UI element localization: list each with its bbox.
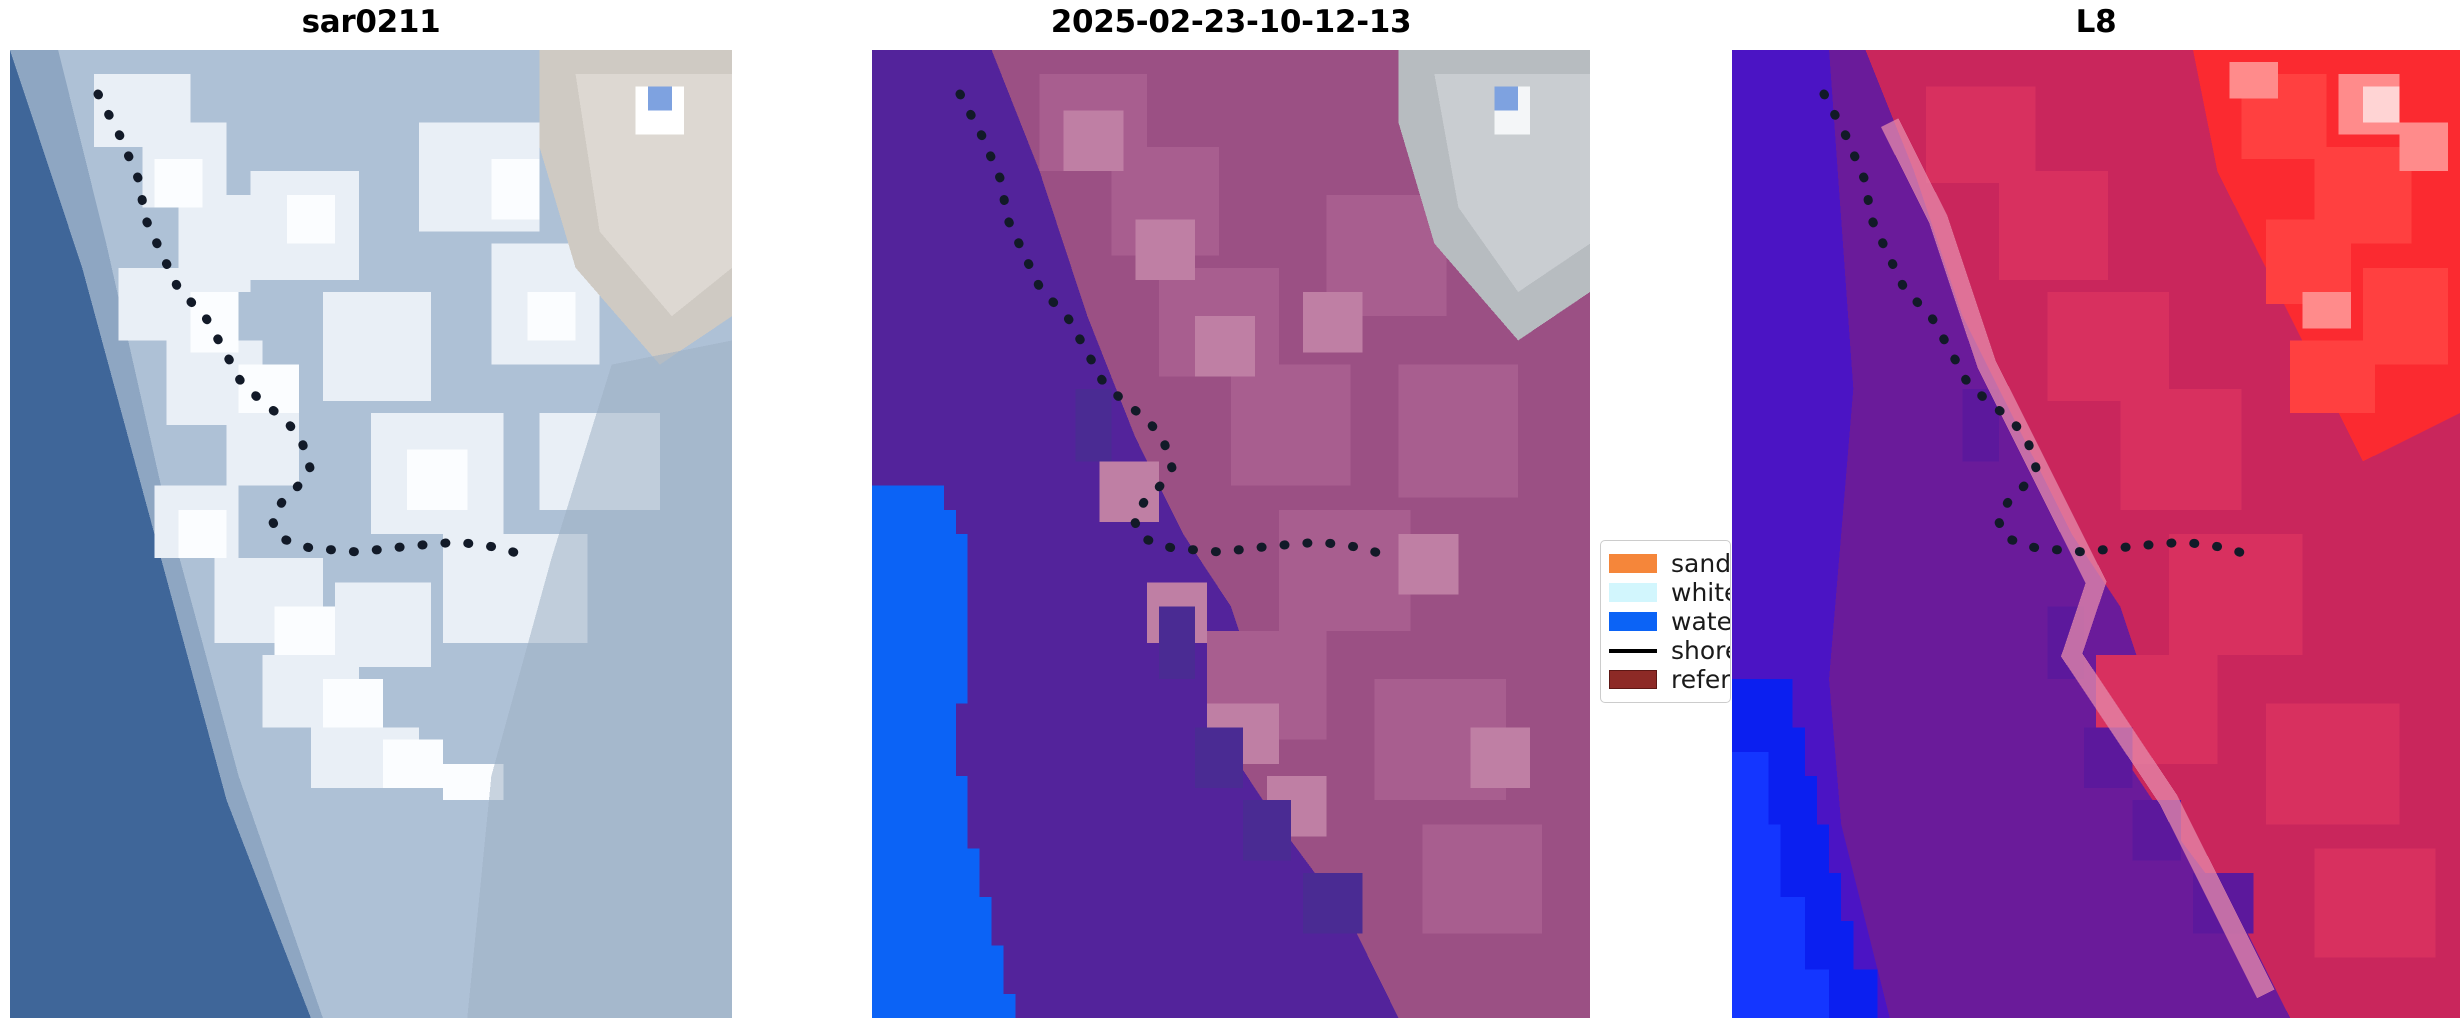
sar-shoreline-overlay [10, 50, 732, 1018]
panel-l8-image[interactable] [1732, 50, 2460, 1018]
l8-shoreline-overlay [1732, 50, 2460, 1018]
classified-shoreline-overlay [872, 50, 1590, 1018]
panel-sar-image[interactable] [10, 50, 732, 1018]
panel-title-classified: 2025-02-23-10-12-13 [872, 2, 1590, 42]
legend-swatch-reference-icon [1609, 670, 1657, 689]
legend-row-whitewater: whitew [1609, 578, 1720, 607]
legend-label-sand: sand [1671, 549, 1731, 578]
legend-swatch-whitewater-icon [1609, 583, 1657, 602]
legend-label-whitewater: whitew [1671, 578, 1731, 607]
legend-swatch-shoreline-icon [1609, 641, 1657, 660]
legend-label-shoreline: shoreli [1671, 636, 1731, 665]
legend-swatch-sand-icon [1609, 554, 1657, 573]
legend-row-water: water [1609, 607, 1720, 636]
legend-row-reference: referen [1609, 665, 1720, 694]
panel-title-sar: sar0211 [10, 2, 732, 42]
legend-box: sand whitew water shoreli referen [1600, 540, 1731, 703]
legend-label-reference: referen [1671, 665, 1731, 694]
legend-label-water: water [1671, 607, 1731, 636]
panel-classified-image[interactable] [872, 50, 1590, 1018]
legend-swatch-water-icon [1609, 612, 1657, 631]
legend-row-sand: sand [1609, 549, 1720, 578]
legend-row-shoreline: shoreli [1609, 636, 1720, 665]
panel-title-l8: L8 [1732, 2, 2460, 42]
figure-canvas: sar0211 [0, 0, 2460, 1032]
